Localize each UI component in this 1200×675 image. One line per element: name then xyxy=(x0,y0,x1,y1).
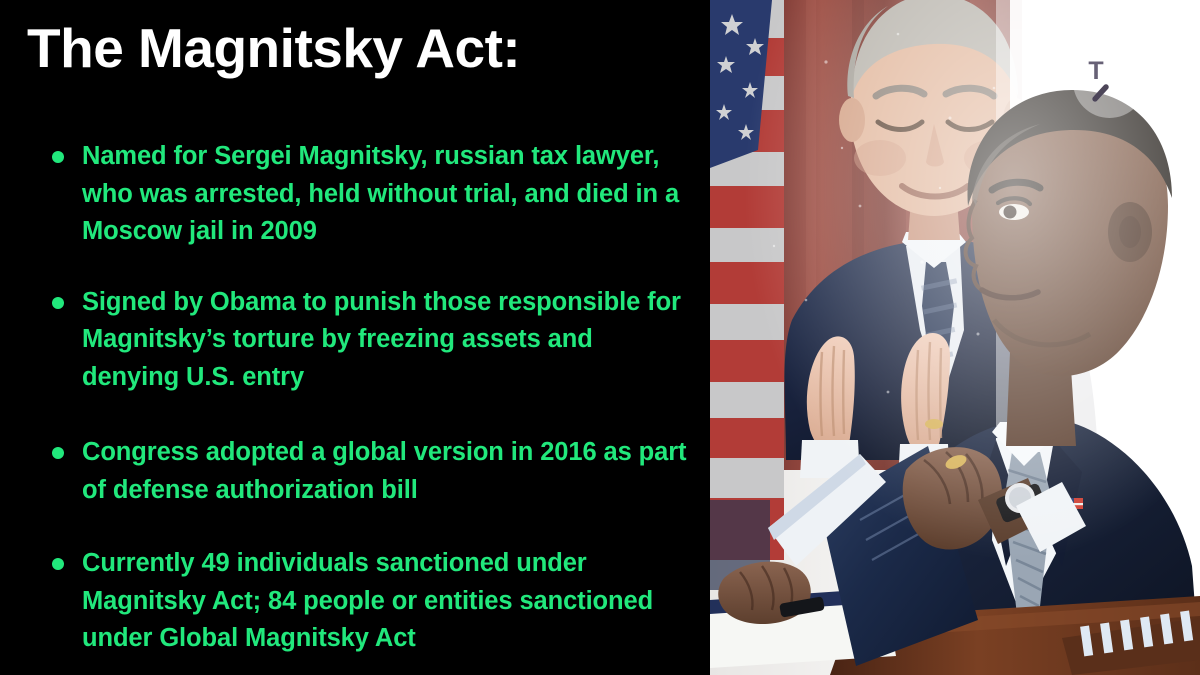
list-item: Signed by Obama to punish those responsi… xyxy=(44,284,694,397)
bullet-text: Named for Sergei Magnitsky, russian tax … xyxy=(82,142,679,245)
text-panel: The Magnitsky Act: Named for Sergei Magn… xyxy=(0,0,710,675)
tt-logo-icon: T T xyxy=(1073,45,1146,118)
bullet-dot-icon xyxy=(52,447,64,459)
list-item: Currently 49 individuals sanctioned unde… xyxy=(44,545,694,658)
bullet-dot-icon xyxy=(52,151,64,163)
list-item: Named for Sergei Magnitsky, russian tax … xyxy=(44,138,694,251)
page-title: The Magnitsky Act: xyxy=(27,18,520,79)
slide-root: The Magnitsky Act: Named for Sergei Magn… xyxy=(0,0,1200,675)
tt-logo-watermark: T T xyxy=(1073,45,1146,118)
watermark-bottom-letter: T xyxy=(1116,79,1131,107)
bullet-text: Signed by Obama to punish those responsi… xyxy=(82,288,681,391)
bullet-dot-icon xyxy=(52,558,64,570)
list-item: Congress adopted a global version in 201… xyxy=(44,434,694,509)
bullet-list: Named for Sergei Magnitsky, russian tax … xyxy=(44,138,694,658)
bullet-text: Congress adopted a global version in 201… xyxy=(82,438,686,504)
watermark-top-letter: T xyxy=(1088,57,1103,85)
bullet-text: Currently 49 individuals sanctioned unde… xyxy=(82,549,653,652)
bullet-dot-icon xyxy=(52,297,64,309)
